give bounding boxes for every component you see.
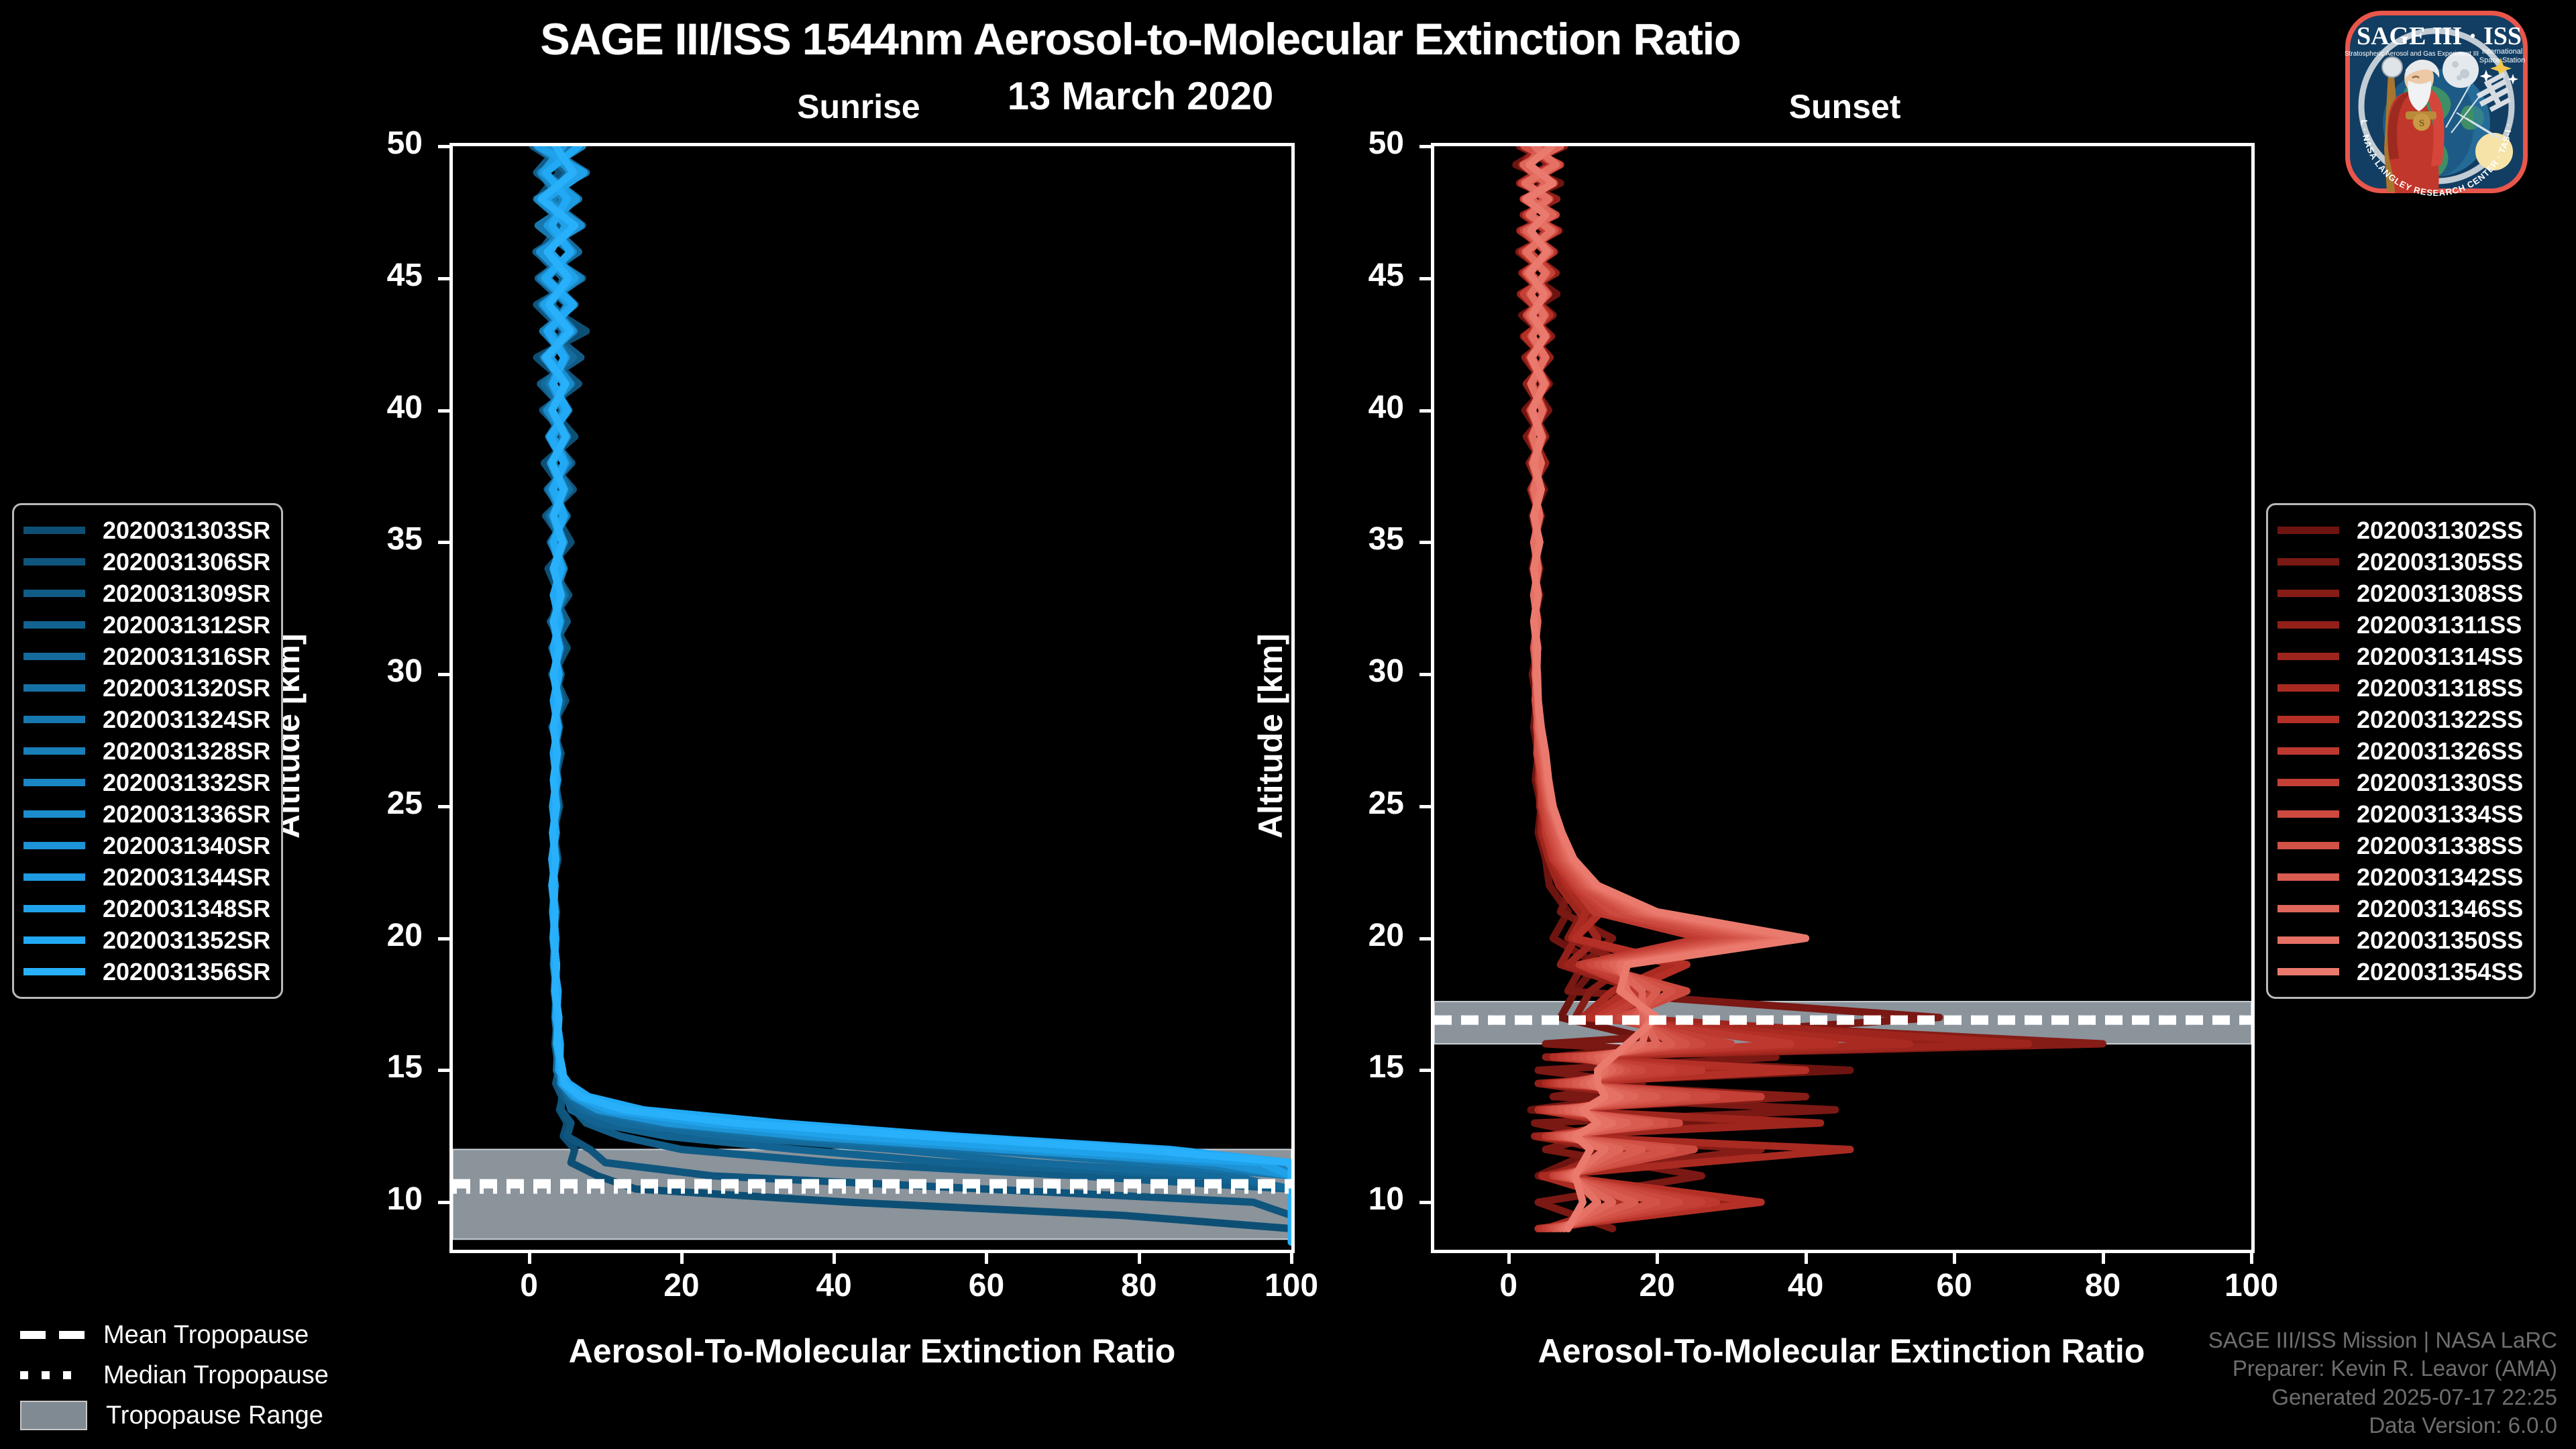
- sunset-y-tick-label: 45: [1303, 257, 1404, 294]
- sunrise-y-tick-mark: [438, 673, 450, 676]
- sunset-x-axis-title: Aerosol-To-Molecular Extinction Ratio: [1405, 1332, 2277, 1371]
- sunset-legend-label: 2020031338SS: [2357, 832, 2523, 860]
- sunrise-legend-label: 2020031336SR: [103, 800, 270, 828]
- sunrise-legend-label: 2020031356SR: [103, 958, 270, 986]
- sunrise-y-tick-mark: [438, 1201, 450, 1204]
- sunset-legend-label: 2020031350SS: [2357, 926, 2523, 955]
- sunrise-legend-row[interactable]: 2020031303SR: [23, 515, 270, 546]
- sunset-legend-row[interactable]: 2020031311SS: [2277, 609, 2523, 641]
- sunset-y-tick-mark: [1419, 409, 1432, 413]
- sunrise-y-tick-label: 40: [322, 389, 423, 426]
- sunrise-legend-row[interactable]: 2020031316SR: [23, 641, 270, 672]
- sunrise-y-tick-mark: [438, 805, 450, 808]
- sunset-y-tick-mark: [1419, 673, 1432, 676]
- sunset-legend-row[interactable]: 2020031318SS: [2277, 672, 2523, 704]
- profile-line: [540, 146, 1291, 1242]
- sunset-legend-label: 2020031302SS: [2357, 517, 2523, 545]
- sunrise-legend-row[interactable]: 2020031340SR: [23, 830, 270, 861]
- sunset-legend-row[interactable]: 2020031322SS: [2277, 704, 2523, 735]
- sunrise-x-tick-label: 20: [628, 1267, 735, 1304]
- sunset-legend-row[interactable]: 2020031342SS: [2277, 861, 2523, 893]
- range-swatch-icon: [20, 1401, 87, 1430]
- sunrise-y-tick-label: 50: [322, 125, 423, 162]
- legend-label-range: Tropopause Range: [106, 1401, 323, 1430]
- sunset-legend-label: 2020031330SS: [2357, 769, 2523, 797]
- sunrise-legend-color-swatch: [23, 842, 85, 849]
- sunset-x-tick-mark: [1953, 1252, 1956, 1264]
- sunrise-y-tick-label: 25: [322, 785, 423, 822]
- profile-line: [533, 146, 1291, 1242]
- sunrise-legend-label: 2020031332SR: [103, 769, 270, 797]
- sunset-y-tick-mark: [1419, 937, 1432, 941]
- sunrise-legend-row[interactable]: 2020031306SR: [23, 546, 270, 578]
- sunset-y-tick-label: 35: [1303, 521, 1404, 557]
- sunrise-legend-label: 2020031309SR: [103, 580, 270, 608]
- sunrise-legend-color-swatch: [23, 653, 85, 660]
- sunrise-legend-color-swatch: [23, 936, 85, 944]
- sunset-y-tick-mark: [1419, 1069, 1432, 1072]
- sunset-legend-label: 2020031334SS: [2357, 800, 2523, 828]
- sunrise-x-tick-label: 100: [1238, 1267, 1345, 1304]
- sunset-y-axis-title: Altitude [km]: [1251, 633, 1290, 839]
- sunrise-y-tick-mark: [438, 145, 450, 148]
- sunset-y-tick-mark: [1419, 277, 1432, 280]
- sunset-legend-color-swatch: [2277, 684, 2339, 692]
- sunrise-y-tick-label: 10: [322, 1181, 423, 1218]
- legend-row-mean-tropopause: Mean Tropopause: [20, 1315, 329, 1355]
- profile-line: [536, 146, 1291, 1242]
- sunrise-legend: 2020031303SR2020031306SR2020031309SR2020…: [12, 503, 283, 999]
- sunset-y-tick-label: 50: [1303, 125, 1404, 162]
- sunrise-legend-row[interactable]: 2020031336SR: [23, 798, 270, 830]
- sunrise-legend-label: 2020031344SR: [103, 863, 270, 892]
- sunrise-legend-color-swatch: [23, 684, 85, 692]
- sunset-legend-color-swatch: [2277, 968, 2339, 975]
- sunset-legend-label: 2020031308SS: [2357, 580, 2523, 608]
- sunrise-legend-row[interactable]: 2020031332SR: [23, 767, 270, 798]
- sunrise-legend-label: 2020031352SR: [103, 926, 270, 955]
- profile-line: [540, 146, 1291, 1242]
- sunrise-legend-row[interactable]: 2020031356SR: [23, 956, 270, 987]
- sunrise-legend-label: 2020031324SR: [103, 706, 270, 734]
- sunset-legend-label: 2020031354SS: [2357, 958, 2523, 986]
- legend-row-median-tropopause: Median Tropopause: [20, 1355, 329, 1395]
- sunset-legend-color-swatch: [2277, 621, 2339, 629]
- sunset-legend-label: 2020031318SS: [2357, 674, 2523, 702]
- sunrise-y-tick-label: 20: [322, 917, 423, 954]
- sunrise-y-tick-mark: [438, 409, 450, 413]
- sunset-legend-color-swatch: [2277, 842, 2339, 849]
- dotted-line-icon: [20, 1371, 85, 1379]
- sunset-legend-label: 2020031305SS: [2357, 548, 2523, 576]
- sunset-legend-label: 2020031322SS: [2357, 706, 2523, 734]
- sunset-y-tick-mark: [1419, 805, 1432, 808]
- legend-label-median: Median Tropopause: [103, 1361, 329, 1390]
- sunrise-plot-area: [449, 143, 1295, 1253]
- sunrise-legend-row[interactable]: 2020031312SR: [23, 609, 270, 641]
- credit-line-data-version: Data Version: 6.0.0: [2208, 1411, 2557, 1440]
- sunrise-legend-label: 2020031320SR: [103, 674, 270, 702]
- sunset-legend-color-swatch: [2277, 936, 2339, 944]
- sunrise-legend-color-swatch: [23, 621, 85, 629]
- sunrise-y-tick-mark: [438, 277, 450, 280]
- sunrise-legend-color-swatch: [23, 747, 85, 755]
- sunset-x-tick-label: 0: [1455, 1267, 1562, 1304]
- sunrise-y-tick-label: 35: [322, 521, 423, 557]
- profile-line: [537, 146, 1291, 1242]
- sunset-legend-color-swatch: [2277, 905, 2339, 912]
- sunrise-legend-row[interactable]: 2020031352SR: [23, 924, 270, 956]
- logo-subtitle-right-2: Space Station: [2479, 56, 2526, 64]
- page-title: SAGE III/ISS 1544nm Aerosol-to-Molecular…: [0, 13, 2281, 64]
- sunrise-x-tick-label: 80: [1085, 1267, 1193, 1304]
- sunset-legend-label: 2020031342SS: [2357, 863, 2523, 892]
- sunset-y-tick-mark: [1419, 1201, 1432, 1204]
- sunset-legend-label: 2020031346SS: [2357, 895, 2523, 923]
- sunset-legend-color-swatch: [2277, 558, 2339, 566]
- sunrise-x-tick-mark: [1290, 1252, 1293, 1264]
- sunset-legend-row[interactable]: 2020031305SS: [2277, 546, 2523, 578]
- sunset-legend-row[interactable]: 2020031330SS: [2277, 767, 2523, 798]
- sunrise-legend-row[interactable]: 2020031324SR: [23, 704, 270, 735]
- sunrise-panel-title: Sunrise: [657, 87, 1060, 126]
- sunrise-legend-row[interactable]: 2020031328SR: [23, 735, 270, 767]
- sunrise-x-tick-label: 60: [932, 1267, 1040, 1304]
- profile-line: [537, 146, 1291, 1242]
- sunrise-x-tick-label: 0: [476, 1267, 583, 1304]
- sunrise-x-tick-label: 40: [780, 1267, 888, 1304]
- sunrise-legend-label: 2020031316SR: [103, 643, 270, 671]
- credit-line-preparer: Preparer: Kevin R. Leavor (AMA): [2208, 1354, 2557, 1383]
- sunrise-legend-color-swatch: [23, 810, 85, 818]
- sunrise-legend-color-swatch: [23, 968, 85, 975]
- profile-line: [537, 146, 1291, 1242]
- sage-iii-iss-mission-patch-logo: S SAGE III · ISS Stratospheric Aerosol a…: [2308, 5, 2565, 196]
- sunrise-legend-label: 2020031340SR: [103, 832, 270, 860]
- dashed-line-icon: [20, 1331, 85, 1339]
- sunset-y-tick-mark: [1419, 145, 1432, 148]
- sunrise-y-tick-label: 45: [322, 257, 423, 294]
- sunset-legend-color-swatch: [2277, 653, 2339, 660]
- sunset-legend-row[interactable]: 2020031354SS: [2277, 956, 2523, 987]
- sunset-legend-row[interactable]: 2020031326SS: [2277, 735, 2523, 767]
- logo-title-text: SAGE III · ISS: [2357, 22, 2522, 50]
- sunset-y-tick-label: 40: [1303, 389, 1404, 426]
- svg-text:S: S: [2419, 118, 2424, 129]
- sunset-legend-color-swatch: [2277, 779, 2339, 786]
- sunrise-legend-color-swatch: [23, 590, 85, 597]
- logo-subtitle-right-1: International: [2482, 48, 2523, 56]
- logo-subtitle-left: Stratospheric Aerosol and Gas Experiment…: [2345, 50, 2479, 58]
- sunrise-legend-row[interactable]: 2020031320SR: [23, 672, 270, 704]
- sunset-x-tick-label: 40: [1752, 1267, 1860, 1304]
- sunrise-x-axis-title: Aerosol-To-Molecular Extinction Ratio: [436, 1332, 1308, 1371]
- sunset-y-tick-mark: [1419, 541, 1432, 544]
- sunrise-legend-color-swatch: [23, 873, 85, 881]
- credit-line-generated: Generated 2025-07-17 22:25: [2208, 1383, 2557, 1411]
- sunset-x-tick-mark: [1507, 1252, 1511, 1264]
- sunset-x-tick-label: 80: [2049, 1267, 2157, 1304]
- sunrise-x-tick-mark: [528, 1252, 531, 1264]
- sunset-legend-row[interactable]: 2020031314SS: [2277, 641, 2523, 672]
- profile-line: [537, 146, 1291, 1242]
- profile-line: [538, 146, 1291, 1242]
- sunset-legend-row[interactable]: 2020031334SS: [2277, 798, 2523, 830]
- sunset-legend-color-swatch: [2277, 527, 2339, 534]
- sunrise-x-tick-mark: [1138, 1252, 1141, 1264]
- sunset-y-tick-label: 25: [1303, 785, 1404, 822]
- sunset-legend-color-swatch: [2277, 747, 2339, 755]
- profile-line: [541, 146, 1291, 1242]
- sunrise-y-tick-label: 15: [322, 1049, 423, 1085]
- sunset-legend-label: 2020031326SS: [2357, 737, 2523, 765]
- sunset-y-tick-label: 10: [1303, 1181, 1404, 1218]
- sunrise-x-tick-mark: [680, 1252, 684, 1264]
- sunrise-legend-label: 2020031328SR: [103, 737, 270, 765]
- sunset-x-tick-label: 100: [2198, 1267, 2305, 1304]
- sunset-x-tick-mark: [1805, 1252, 1808, 1264]
- sunrise-plot-canvas: [453, 146, 1291, 1250]
- credits-block: SAGE III/ISS Mission | NASA LaRC Prepare…: [2208, 1326, 2557, 1440]
- sunrise-legend-label: 2020031312SR: [103, 611, 270, 639]
- sunrise-y-tick-label: 30: [322, 653, 423, 690]
- sunset-legend-row[interactable]: 2020031338SS: [2277, 830, 2523, 861]
- sunset-legend-row[interactable]: 2020031350SS: [2277, 924, 2523, 956]
- sunset-x-tick-mark: [1656, 1252, 1659, 1264]
- sunset-plot-area: [1431, 143, 2255, 1253]
- sunrise-legend-label: 2020031306SR: [103, 548, 270, 576]
- sunrise-x-tick-mark: [833, 1252, 836, 1264]
- legend-label-mean: Mean Tropopause: [103, 1321, 309, 1350]
- sunrise-legend-label: 2020031303SR: [103, 517, 270, 545]
- sunrise-y-tick-mark: [438, 541, 450, 544]
- profile-line: [538, 146, 1291, 1242]
- sunset-y-tick-label: 20: [1303, 917, 1404, 954]
- sunrise-legend-color-swatch: [23, 779, 85, 786]
- sunset-legend-color-swatch: [2277, 716, 2339, 723]
- sunset-legend: 2020031302SS2020031305SS2020031308SS2020…: [2266, 503, 2536, 999]
- sunrise-legend-row[interactable]: 2020031348SR: [23, 893, 270, 924]
- profile-line: [546, 146, 1291, 1242]
- sunset-legend-color-swatch: [2277, 873, 2339, 881]
- profile-line: [541, 146, 1291, 1242]
- sunrise-x-tick-mark: [985, 1252, 988, 1264]
- sunset-legend-color-swatch: [2277, 810, 2339, 818]
- sunset-x-tick-label: 60: [1900, 1267, 2008, 1304]
- sunset-legend-row[interactable]: 2020031302SS: [2277, 515, 2523, 546]
- sunset-y-tick-label: 15: [1303, 1049, 1404, 1085]
- sunrise-legend-color-swatch: [23, 527, 85, 534]
- sunrise-y-tick-mark: [438, 937, 450, 941]
- sunset-legend-label: 2020031314SS: [2357, 643, 2523, 671]
- tropopause-legend: Mean Tropopause Median Tropopause Tropop…: [20, 1315, 329, 1436]
- profile-line: [543, 146, 1291, 1242]
- sunrise-legend-color-swatch: [23, 716, 85, 723]
- sunset-legend-row[interactable]: 2020031346SS: [2277, 893, 2523, 924]
- sunset-panel-title: Sunset: [1644, 87, 2046, 126]
- sunrise-legend-label: 2020031348SR: [103, 895, 270, 923]
- sunset-x-tick-label: 20: [1603, 1267, 1711, 1304]
- sunset-plot-canvas: [1434, 146, 2251, 1250]
- sunrise-legend-color-swatch: [23, 558, 85, 566]
- sunrise-legend-row[interactable]: 2020031309SR: [23, 578, 270, 609]
- sunset-x-tick-mark: [2102, 1252, 2105, 1264]
- legend-row-tropopause-range: Tropopause Range: [20, 1395, 329, 1436]
- sunrise-legend-row[interactable]: 2020031344SR: [23, 861, 270, 893]
- sunrise-legend-color-swatch: [23, 905, 85, 912]
- sunset-legend-color-swatch: [2277, 590, 2339, 597]
- credit-line-mission: SAGE III/ISS Mission | NASA LaRC: [2208, 1326, 2557, 1354]
- profile-line: [538, 146, 1291, 1242]
- sunset-legend-label: 2020031311SS: [2357, 611, 2522, 639]
- sunset-x-tick-mark: [2250, 1252, 2253, 1264]
- sunset-y-tick-label: 30: [1303, 653, 1404, 690]
- sunset-legend-row[interactable]: 2020031308SS: [2277, 578, 2523, 609]
- sunrise-y-tick-mark: [438, 1069, 450, 1072]
